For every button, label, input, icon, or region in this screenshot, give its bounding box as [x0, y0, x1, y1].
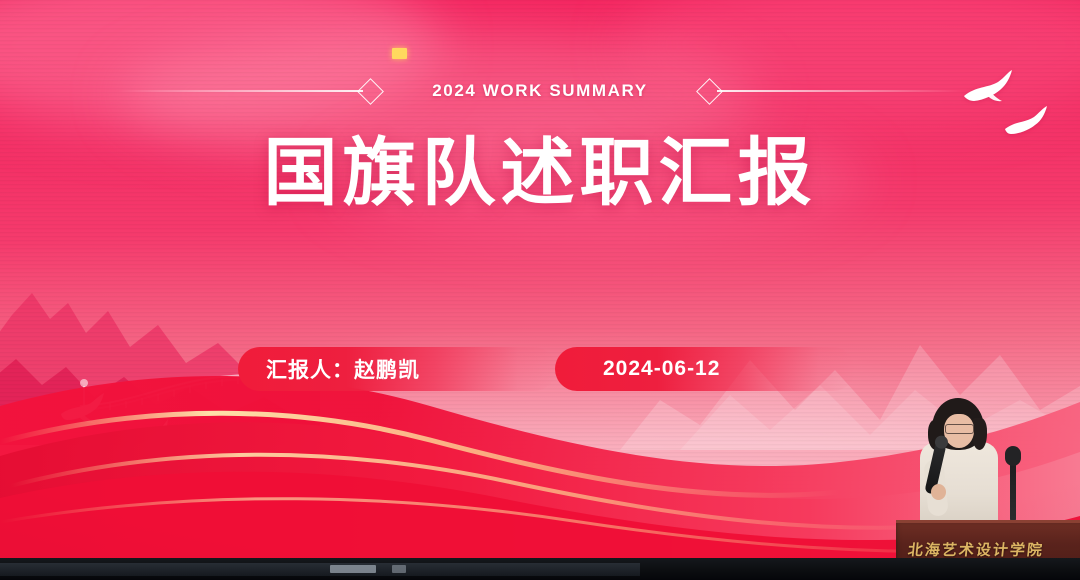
dove-icon: [22, 452, 92, 496]
dove-icon: [100, 419, 190, 475]
slide-title: 国旗队述职汇报: [0, 136, 1080, 210]
presenter-badge: 汇报人：赵鹏凯: [238, 347, 556, 391]
presentation-photo: 2024 WORK SUMMARY 国旗队述职汇报 汇报人：赵鹏凯 2024-0…: [0, 0, 1080, 580]
date-label: 2024-06-12: [555, 357, 720, 381]
slide-eyebrow-row: 2024 WORK SUMMARY: [0, 70, 1080, 112]
diamond-icon: [696, 78, 723, 105]
speaker-area: 北海艺术设计学院: [900, 380, 1080, 580]
gold-accent-chip: [392, 48, 407, 59]
microphone-stand-icon: [1010, 458, 1016, 522]
presenter-label: 汇报人：赵鹏凯: [238, 354, 420, 384]
glasses-icon: [945, 424, 974, 434]
screen-bezel: [0, 558, 1080, 580]
podium-inscription: 北海艺术设计学院: [907, 539, 1080, 560]
bezel-tab: [330, 565, 376, 573]
decoration-line: [118, 90, 363, 92]
header-decoration-left: [118, 80, 380, 102]
decoration-line: [717, 90, 962, 92]
bezel-tab: [392, 565, 406, 573]
dove-icon: [58, 392, 120, 430]
header-decoration-right: [700, 80, 962, 102]
bezel-strip: [0, 563, 640, 576]
slide-badges: 汇报人：赵鹏凯 2024-06-12: [238, 347, 855, 391]
diamond-icon: [357, 78, 384, 105]
date-badge: 2024-06-12: [555, 347, 855, 391]
slide-eyebrow: 2024 WORK SUMMARY: [380, 81, 700, 101]
speaker-hand: [931, 484, 946, 500]
